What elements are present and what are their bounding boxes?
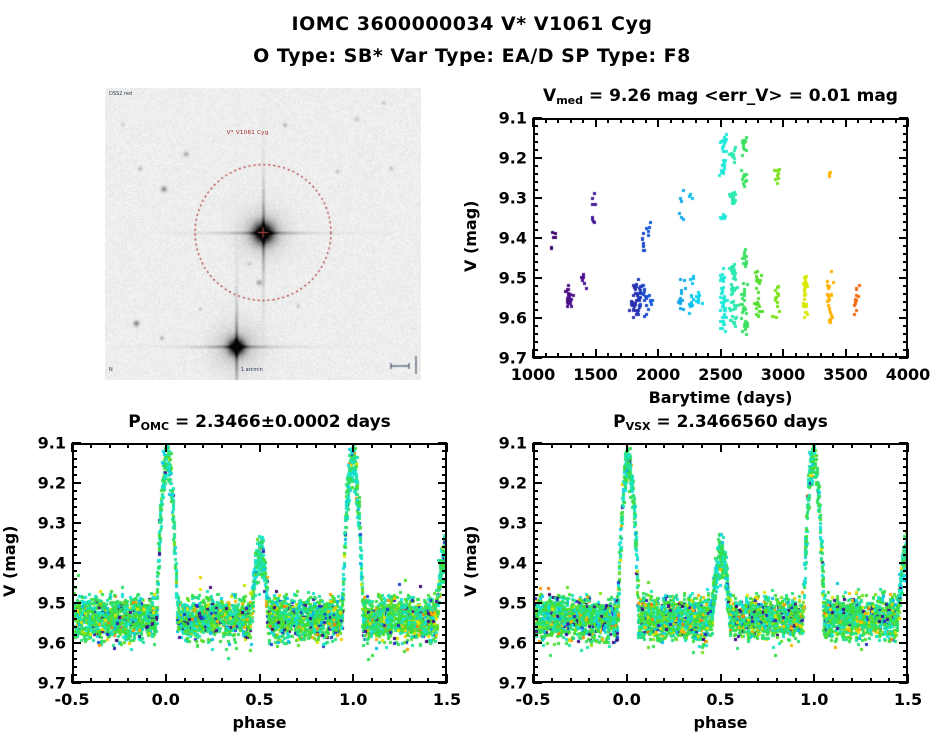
- phase-vsx-y-tick-label: 9.6: [481, 634, 527, 653]
- phase-vsx-y-minor-tick: [533, 490, 538, 492]
- lightcurve-y-minor-tick: [903, 213, 908, 215]
- lightcurve-x-minor-tick: [745, 353, 747, 358]
- lightcurve-y-tick: [533, 277, 542, 279]
- phase-omc-y-minor-tick: [72, 538, 77, 540]
- phase-vsx-y-tick: [533, 522, 542, 524]
- phase-vsx-y-minor-tick: [903, 594, 908, 596]
- phase-omc-y-minor-tick: [442, 490, 447, 492]
- lightcurve-y-tick: [533, 357, 542, 359]
- phase-vsx-y-minor-tick: [903, 530, 908, 532]
- phase-vsx-x-tick: [626, 443, 628, 452]
- phase-omc-y-minor-tick: [442, 650, 447, 652]
- lightcurve-y-tick: [533, 117, 542, 119]
- lightcurve-x-axis-label: Barytime (days): [533, 388, 908, 407]
- lightcurve-y-tick: [899, 317, 908, 319]
- phase-vsx-x-minor-tick: [682, 443, 684, 448]
- phase-vsx-x-tick: [626, 674, 628, 683]
- lightcurve-y-tick: [899, 277, 908, 279]
- phase-omc-x-minor-tick: [427, 443, 429, 448]
- phase-omc-y-minor-tick: [442, 466, 447, 468]
- lightcurve-x-minor-tick: [882, 118, 884, 123]
- lightcurve-x-minor-tick: [545, 353, 547, 358]
- phase-vsx-y-tick: [533, 682, 542, 684]
- phase-vsx-x-tick: [907, 443, 909, 452]
- phase-omc-y-tick: [438, 642, 447, 644]
- phase-vsx-y-tick: [533, 602, 542, 604]
- figure-header: IOMC 3600000034 V* V1061 Cyg O Type: SB*…: [0, 0, 944, 67]
- phase-omc-x-minor-tick: [371, 443, 373, 448]
- phase-omc-y-minor-tick: [442, 610, 447, 612]
- lightcurve-y-minor-tick: [903, 309, 908, 311]
- phase-vsx-x-minor-tick: [888, 678, 890, 683]
- lightcurve-y-minor-tick: [533, 205, 538, 207]
- phase-vsx-y-tick: [533, 442, 542, 444]
- lightcurve-y-minor-tick: [903, 261, 908, 263]
- phase-vsx-x-tick: [532, 674, 534, 683]
- phase-omc-y-tick: [72, 442, 81, 444]
- phase-omc-y-minor-tick: [72, 458, 77, 460]
- phase-omc-y-tick-label: 9.2: [20, 474, 66, 493]
- lightcurve-x-minor-tick: [745, 118, 747, 123]
- phase-omc-title-rest: = 2.3466±0.0002 days: [169, 412, 391, 432]
- phase-omc-y-tick-label: 9.4: [20, 554, 66, 573]
- phase-omc-x-tick: [259, 443, 261, 452]
- lightcurve-title-prefix: V: [543, 86, 556, 106]
- phase-vsx-y-tick: [533, 562, 542, 564]
- phase-omc-y-minor-tick: [72, 658, 77, 660]
- lightcurve-y-minor-tick: [533, 245, 538, 247]
- finder-survey-note: DSS2 red: [109, 91, 132, 97]
- lightcurve-x-minor-tick: [620, 353, 622, 358]
- lightcurve-x-minor-tick: [670, 353, 672, 358]
- phase-vsx-y-minor-tick: [903, 666, 908, 668]
- lightcurve-x-tick-label: 3500: [823, 365, 868, 384]
- phase-vsx-x-minor-tick: [570, 678, 572, 683]
- phase-vsx-y-minor-tick: [903, 538, 908, 540]
- phase-vsx-y-minor-tick: [533, 578, 538, 580]
- phase-vsx-y-minor-tick: [903, 618, 908, 620]
- phase-omc-y-tick: [72, 642, 81, 644]
- phase-vsx-x-minor-tick: [682, 678, 684, 683]
- phase-vsx-y-minor-tick: [533, 650, 538, 652]
- phase-vsx-y-minor-tick: [533, 498, 538, 500]
- lightcurve-y-minor-tick: [533, 325, 538, 327]
- phase-omc-y-tick: [438, 482, 447, 484]
- lightcurve-x-tick-label: 2000: [636, 365, 681, 384]
- lightcurve-x-minor-tick: [820, 353, 822, 358]
- lightcurve-y-minor-tick: [903, 165, 908, 167]
- lightcurve-y-minor-tick: [903, 245, 908, 247]
- phase-omc-x-tick: [165, 674, 167, 683]
- lightcurve-x-minor-tick: [707, 118, 709, 123]
- lightcurve-y-tick-label: 9.6: [481, 309, 527, 328]
- phase-omc-y-minor-tick: [72, 666, 77, 668]
- phase-vsx-y-minor-tick: [533, 586, 538, 588]
- lightcurve-y-minor-tick: [903, 301, 908, 303]
- lightcurve-x-minor-tick: [632, 118, 634, 123]
- lightcurve-y-minor-tick: [903, 341, 908, 343]
- lightcurve-x-minor-tick: [557, 118, 559, 123]
- lightcurve-y-minor-tick: [533, 173, 538, 175]
- lightcurve-y-minor-tick: [533, 333, 538, 335]
- phase-omc-x-tick: [446, 443, 448, 452]
- lightcurve-y-minor-tick: [903, 229, 908, 231]
- lightcurve-y-tick: [533, 317, 542, 319]
- phase-omc-x-minor-tick: [109, 678, 111, 683]
- phase-omc-y-minor-tick: [442, 634, 447, 636]
- phase-omc-x-tick: [71, 674, 73, 683]
- phase-omc-x-minor-tick: [390, 678, 392, 683]
- phase-vsx-x-tick: [813, 443, 815, 452]
- phase-omc-x-minor-tick: [127, 678, 129, 683]
- phase-omc-y-minor-tick: [72, 586, 77, 588]
- lightcurve-x-tick: [907, 349, 909, 358]
- phase-omc-y-minor-tick: [442, 554, 447, 556]
- lightcurve-y-axis-label: V (mag): [461, 201, 480, 273]
- phase-omc-x-minor-tick: [334, 443, 336, 448]
- phase-vsx-title-subscript: VSX: [626, 420, 651, 433]
- phase-omc-y-minor-tick: [442, 618, 447, 620]
- lightcurve-x-minor-tick: [682, 118, 684, 123]
- phase-vsx-x-minor-tick: [701, 678, 703, 683]
- phase-omc-x-tick: [352, 443, 354, 452]
- lightcurve-y-tick-label: 9.1: [481, 109, 527, 128]
- lightcurve-y-minor-tick: [533, 213, 538, 215]
- phase-vsx-y-minor-tick: [533, 618, 538, 620]
- phase-omc-x-minor-tick: [427, 678, 429, 683]
- lightcurve-x-minor-tick: [620, 118, 622, 123]
- lightcurve-y-tick: [899, 197, 908, 199]
- lightcurve-x-minor-tick: [770, 353, 772, 358]
- lightcurve-y-minor-tick: [533, 301, 538, 303]
- phase-vsx-x-tick-label: 0.0: [613, 690, 641, 709]
- phase-omc-x-tick: [352, 674, 354, 683]
- phase-vsx-x-minor-tick: [551, 678, 553, 683]
- phase-omc-y-minor-tick: [442, 666, 447, 668]
- phase-vsx-y-minor-tick: [533, 570, 538, 572]
- lightcurve-x-minor-tick: [857, 353, 859, 358]
- phase-omc-x-minor-tick: [409, 443, 411, 448]
- lightcurve-y-minor-tick: [533, 341, 538, 343]
- lightcurve-y-tick-label: 9.5: [481, 269, 527, 288]
- phase-omc-x-minor-tick: [390, 443, 392, 448]
- phase-vsx-x-minor-tick: [551, 443, 553, 448]
- phase-vsx-x-tick-label: 1.0: [800, 690, 828, 709]
- phase-vsx-y-minor-tick: [533, 610, 538, 612]
- lightcurve-y-tick-label: 9.4: [481, 229, 527, 248]
- phase-omc-y-minor-tick: [72, 474, 77, 476]
- phase-vsx-x-minor-tick: [588, 678, 590, 683]
- lightcurve-x-minor-tick: [645, 353, 647, 358]
- lightcurve-x-tick: [845, 349, 847, 358]
- lightcurve-y-tick-label: 9.3: [481, 189, 527, 208]
- lightcurve-y-minor-tick: [903, 173, 908, 175]
- lightcurve-y-minor-tick: [533, 253, 538, 255]
- lightcurve-x-minor-tick: [832, 118, 834, 123]
- phase-vsx-x-minor-tick: [832, 443, 834, 448]
- lightcurve-y-minor-tick: [903, 285, 908, 287]
- lightcurve-y-minor-tick: [533, 141, 538, 143]
- phase-vsx-y-tick-label: 9.3: [481, 514, 527, 533]
- lightcurve-x-minor-tick: [707, 353, 709, 358]
- phase-vsx-y-minor-tick: [903, 466, 908, 468]
- lightcurve-x-minor-tick: [607, 118, 609, 123]
- phase-vsx-title: PVSX = 2.3466560 days: [533, 412, 908, 432]
- phase-omc-x-minor-tick: [296, 678, 298, 683]
- lightcurve-x-tick: [532, 349, 534, 358]
- phase-omc-x-minor-tick: [240, 443, 242, 448]
- phase-omc-y-minor-tick: [442, 474, 447, 476]
- phase-vsx-y-axis-label: V (mag): [461, 526, 480, 598]
- lightcurve-y-minor-tick: [903, 333, 908, 335]
- phase-vsx-y-tick: [899, 642, 908, 644]
- phase-vsx-y-minor-tick: [903, 490, 908, 492]
- phase-vsx-y-minor-tick: [903, 650, 908, 652]
- finder-scale-note: 1 arcmin: [241, 367, 263, 373]
- phase-vsx-x-minor-tick: [738, 678, 740, 683]
- phase-omc-x-minor-tick: [277, 443, 279, 448]
- phase-vsx-y-minor-tick: [533, 658, 538, 660]
- phase-omc-x-minor-tick: [277, 678, 279, 683]
- phase-omc-x-minor-tick: [146, 443, 148, 448]
- lightcurve-x-tick: [907, 118, 909, 127]
- phase-omc-title-prefix: P: [128, 412, 140, 432]
- phase-omc-y-minor-tick: [442, 626, 447, 628]
- phase-omc-y-minor-tick: [72, 610, 77, 612]
- phase-omc-y-tick-label: 9.6: [20, 634, 66, 653]
- lightcurve-x-minor-tick: [695, 118, 697, 123]
- phase-vsx-y-tick-label: 9.2: [481, 474, 527, 493]
- lightcurve-y-minor-tick: [903, 149, 908, 151]
- lightcurve-x-minor-tick: [582, 118, 584, 123]
- phase-omc-x-minor-tick: [184, 443, 186, 448]
- phase-vsx-y-minor-tick: [533, 506, 538, 508]
- lightcurve-y-minor-tick: [533, 269, 538, 271]
- phase-vsx-x-minor-tick: [851, 678, 853, 683]
- phase-omc-y-minor-tick: [72, 490, 77, 492]
- phase-vsx-y-minor-tick: [533, 594, 538, 596]
- phase-omc-y-minor-tick: [442, 570, 447, 572]
- phase-omc-x-tick-label: 0.5: [245, 690, 273, 709]
- phase-vsx-y-minor-tick: [533, 474, 538, 476]
- phase-omc-x-minor-tick: [334, 678, 336, 683]
- lightcurve-x-minor-tick: [670, 118, 672, 123]
- phase-vsx-y-minor-tick: [903, 554, 908, 556]
- lightcurve-x-minor-tick: [857, 118, 859, 123]
- phase-vsx-x-tick: [720, 674, 722, 683]
- phase-vsx-y-minor-tick: [903, 658, 908, 660]
- phase-omc-y-tick: [72, 482, 81, 484]
- phase-vsx-title-rest: = 2.3466560 days: [650, 412, 827, 432]
- lightcurve-x-minor-tick: [695, 353, 697, 358]
- phase-vsx-y-minor-tick: [903, 546, 908, 548]
- phase-omc-y-tick: [438, 602, 447, 604]
- lightcurve-x-minor-tick: [807, 353, 809, 358]
- lightcurve-x-tick-label: 2500: [698, 365, 743, 384]
- lightcurve-x-tick: [720, 118, 722, 127]
- phase-vsx-y-tick: [533, 482, 542, 484]
- finder-orientation-note: N: [109, 367, 113, 373]
- phase-omc-y-minor-tick: [72, 650, 77, 652]
- phase-omc-y-minor-tick: [72, 618, 77, 620]
- lightcurve-x-tick-label: 1000: [511, 365, 556, 384]
- lightcurve-x-minor-tick: [807, 118, 809, 123]
- lightcurve-x-tick-label: 1500: [573, 365, 618, 384]
- lightcurve-x-minor-tick: [795, 118, 797, 123]
- lightcurve-x-minor-tick: [870, 118, 872, 123]
- phase-vsx-x-minor-tick: [663, 678, 665, 683]
- phase-omc-x-tick: [165, 443, 167, 452]
- lightcurve-x-minor-tick: [795, 353, 797, 358]
- phase-vsx-y-minor-tick: [903, 610, 908, 612]
- lightcurve-y-minor-tick: [533, 293, 538, 295]
- lightcurve-x-tick: [595, 349, 597, 358]
- phase-vsx-x-minor-tick: [776, 678, 778, 683]
- lightcurve-x-minor-tick: [895, 118, 897, 123]
- phase-omc-x-minor-tick: [296, 443, 298, 448]
- phase-omc-y-minor-tick: [72, 554, 77, 556]
- phase-omc-x-minor-tick: [240, 678, 242, 683]
- phase-omc-title-subscript: OMC: [141, 420, 169, 433]
- phase-omc-x-minor-tick: [315, 443, 317, 448]
- phase-vsx-y-minor-tick: [533, 458, 538, 460]
- phase-omc-x-minor-tick: [371, 678, 373, 683]
- phase-vsx-y-minor-tick: [903, 514, 908, 516]
- phase-vsx-y-tick-label: 9.5: [481, 594, 527, 613]
- lightcurve-x-minor-tick: [645, 118, 647, 123]
- phase-vsx-y-tick-label: 9.4: [481, 554, 527, 573]
- phase-omc-x-axis-label: phase: [72, 713, 447, 732]
- lightcurve-y-tick: [899, 237, 908, 239]
- phase-vsx-y-minor-tick: [903, 458, 908, 460]
- finder-object-label: V* V1061 Cyg: [227, 130, 269, 136]
- phase-vsx-x-minor-tick: [645, 443, 647, 448]
- lightcurve-x-minor-tick: [757, 353, 759, 358]
- lightcurve-plot-frame: [533, 118, 908, 358]
- phase-vsx-x-minor-tick: [570, 443, 572, 448]
- finder-chart-panel: V* V1061 Cyg DSS2 red 1 arcmin N: [105, 88, 421, 380]
- phase-omc-y-minor-tick: [442, 514, 447, 516]
- phase-omc-plot-frame: [72, 443, 447, 683]
- phase-vsx-y-minor-tick: [903, 474, 908, 476]
- lightcurve-y-minor-tick: [903, 325, 908, 327]
- phase-omc-y-tick: [438, 562, 447, 564]
- phase-omc-y-tick: [72, 522, 81, 524]
- lightcurve-x-minor-tick: [682, 353, 684, 358]
- phase-omc-x-minor-tick: [409, 678, 411, 683]
- lightcurve-y-minor-tick: [903, 189, 908, 191]
- lightcurve-x-tick: [657, 349, 659, 358]
- phase-vsx-x-minor-tick: [607, 678, 609, 683]
- phase-vsx-x-minor-tick: [888, 443, 890, 448]
- lightcurve-x-minor-tick: [732, 353, 734, 358]
- lightcurve-y-minor-tick: [903, 221, 908, 223]
- phase-omc-y-minor-tick: [442, 498, 447, 500]
- phase-omc-y-minor-tick: [72, 498, 77, 500]
- phase-vsx-y-minor-tick: [903, 586, 908, 588]
- phase-omc-y-minor-tick: [72, 578, 77, 580]
- lightcurve-title: Vmed = 9.26 mag <err_V> = 0.01 mag: [533, 86, 908, 106]
- lightcurve-x-tick: [782, 118, 784, 127]
- lightcurve-y-tick-label: 9.2: [481, 149, 527, 168]
- phase-vsx-y-tick: [533, 642, 542, 644]
- lightcurve-x-minor-tick: [882, 353, 884, 358]
- phase-vsx-x-minor-tick: [738, 443, 740, 448]
- lightcurve-x-minor-tick: [570, 118, 572, 123]
- phase-omc-y-tick: [72, 562, 81, 564]
- phase-vsx-x-minor-tick: [701, 443, 703, 448]
- phase-vsx-x-minor-tick: [607, 443, 609, 448]
- phase-vsx-y-minor-tick: [533, 514, 538, 516]
- lightcurve-x-tick: [532, 118, 534, 127]
- phase-omc-y-minor-tick: [442, 546, 447, 548]
- phase-vsx-y-minor-tick: [533, 538, 538, 540]
- phase-omc-x-tick-label: 1.5: [433, 690, 461, 709]
- lightcurve-x-minor-tick: [757, 118, 759, 123]
- phase-vsx-y-minor-tick: [533, 554, 538, 556]
- lightcurve-y-minor-tick: [903, 253, 908, 255]
- phase-omc-y-minor-tick: [442, 458, 447, 460]
- lightcurve-x-minor-tick: [870, 353, 872, 358]
- lightcurve-y-minor-tick: [533, 229, 538, 231]
- lightcurve-title-rest: = 9.26 mag <err_V> = 0.01 mag: [583, 86, 898, 106]
- lightcurve-x-minor-tick: [557, 353, 559, 358]
- phase-vsx-y-minor-tick: [903, 634, 908, 636]
- phase-omc-y-minor-tick: [442, 530, 447, 532]
- phase-vsx-y-minor-tick: [533, 666, 538, 668]
- phase-vsx-x-tick-label: -0.5: [516, 690, 551, 709]
- phase-omc-y-tick: [438, 522, 447, 524]
- phase-vsx-y-tick: [899, 482, 908, 484]
- lightcurve-x-minor-tick: [632, 353, 634, 358]
- phase-omc-y-minor-tick: [442, 658, 447, 660]
- lightcurve-y-minor-tick: [533, 285, 538, 287]
- phase-vsx-x-tick: [813, 674, 815, 683]
- phase-vsx-x-minor-tick: [870, 443, 872, 448]
- phase-vsx-y-tick: [899, 562, 908, 564]
- phase-omc-x-tick-label: 1.0: [339, 690, 367, 709]
- lightcurve-y-minor-tick: [903, 141, 908, 143]
- phase-vsx-x-minor-tick: [663, 443, 665, 448]
- lightcurve-y-minor-tick: [533, 181, 538, 183]
- phase-omc-title: POMC = 2.3466±0.0002 days: [72, 412, 447, 432]
- phase-omc-x-tick: [446, 674, 448, 683]
- lightcurve-y-tick: [533, 237, 542, 239]
- phase-omc-x-tick: [71, 443, 73, 452]
- phase-omc-y-minor-tick: [72, 626, 77, 628]
- phase-omc-x-minor-tick: [90, 443, 92, 448]
- phase-vsx-x-minor-tick: [588, 443, 590, 448]
- phase-vsx-y-minor-tick: [903, 570, 908, 572]
- lightcurve-x-minor-tick: [732, 118, 734, 123]
- phase-omc-y-minor-tick: [442, 578, 447, 580]
- lightcurve-y-minor-tick: [533, 133, 538, 135]
- lightcurve-x-minor-tick: [832, 353, 834, 358]
- lightcurve-x-minor-tick: [545, 118, 547, 123]
- phase-vsx-plot-frame: [533, 443, 908, 683]
- phase-omc-y-minor-tick: [442, 586, 447, 588]
- phase-omc-y-minor-tick: [72, 546, 77, 548]
- phase-omc-y-minor-tick: [72, 530, 77, 532]
- phase-vsx-y-minor-tick: [903, 578, 908, 580]
- phase-omc-x-minor-tick: [109, 443, 111, 448]
- lightcurve-y-minor-tick: [533, 165, 538, 167]
- lightcurve-x-tick: [720, 349, 722, 358]
- phase-vsx-x-minor-tick: [851, 443, 853, 448]
- phase-omc-y-minor-tick: [442, 594, 447, 596]
- phase-vsx-x-tick: [720, 443, 722, 452]
- phase-vsx-x-minor-tick: [795, 678, 797, 683]
